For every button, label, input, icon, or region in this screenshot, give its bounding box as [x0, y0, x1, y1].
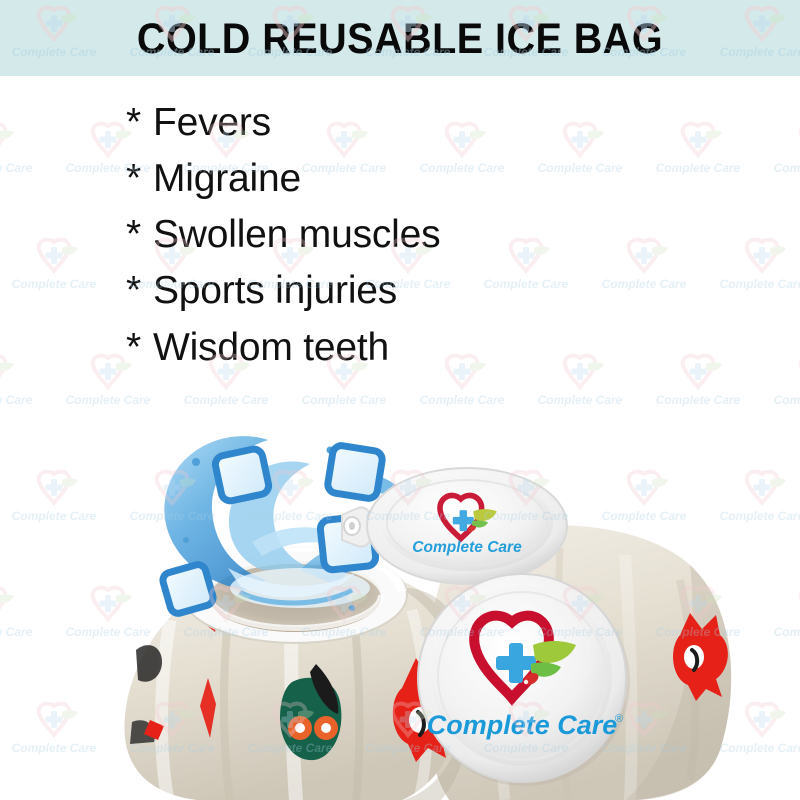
product-photo: Complete Care Complete Care — [0, 420, 800, 800]
front-lid: Complete Care ® — [418, 574, 630, 786]
svg-text:Complete Care: Complete Care — [0, 161, 33, 175]
front-lid-trademark: ® — [615, 713, 623, 725]
list-item: *Swollen muscles — [126, 207, 686, 263]
front-lid-brand-text: Complete Care — [427, 710, 618, 740]
svg-text:Complete Care: Complete Care — [774, 161, 800, 175]
list-item: *Wisdom teeth — [126, 320, 686, 376]
svg-text:Complete Care: Complete Care — [12, 277, 97, 291]
svg-text:Complete Care: Complete Care — [774, 393, 800, 407]
watermark-logo: Complete Care — [712, 236, 800, 294]
ice-cube — [327, 444, 384, 499]
list-item: *Sports injuries — [126, 263, 686, 319]
svg-text:Complete Care: Complete Care — [720, 277, 800, 291]
svg-text:Complete Care: Complete Care — [302, 393, 387, 407]
list-item-label: Fevers — [153, 101, 271, 144]
list-item-label: Wisdom teeth — [153, 326, 389, 369]
product-listing-image: COLD REUSABLE ICE BAG *Fevers *Migraine … — [0, 0, 800, 800]
svg-text:Complete Care: Complete Care — [66, 393, 151, 407]
svg-text:Complete Care: Complete Care — [538, 393, 623, 407]
svg-text:Complete Care: Complete Care — [184, 393, 269, 407]
bullet-star: * — [126, 326, 141, 369]
bullet-star: * — [126, 157, 141, 200]
list-item-label: Migraine — [153, 157, 301, 200]
list-item: *Fevers — [126, 95, 686, 151]
watermark-logo: Complete Care — [766, 352, 800, 410]
bullet-star: * — [126, 101, 141, 144]
list-item: *Migraine — [126, 151, 686, 207]
watermark-logo: Complete Care — [0, 120, 44, 178]
svg-text:Complete Care: Complete Care — [656, 393, 741, 407]
list-item-label: Swollen muscles — [153, 213, 440, 256]
benefits-list: *Fevers *Migraine *Swollen muscles *Spor… — [126, 95, 686, 376]
watermark-logo: Complete Care — [4, 236, 108, 294]
svg-text:Complete Care: Complete Care — [0, 393, 33, 407]
watermark-logo: Complete Care — [766, 120, 800, 178]
list-item-label: Sports injuries — [153, 269, 397, 312]
bullet-star: * — [126, 213, 141, 256]
ice-cube — [161, 563, 215, 616]
page-title: COLD REUSABLE ICE BAG — [32, 0, 768, 76]
watermark-logo: Complete Care — [0, 352, 44, 410]
header-band: COLD REUSABLE ICE BAG — [0, 0, 800, 76]
svg-text:Complete Care: Complete Care — [420, 393, 505, 407]
ice-cube — [214, 448, 271, 503]
bullet-star: * — [126, 269, 141, 312]
back-lid-brand-text: Complete Care — [412, 539, 522, 556]
